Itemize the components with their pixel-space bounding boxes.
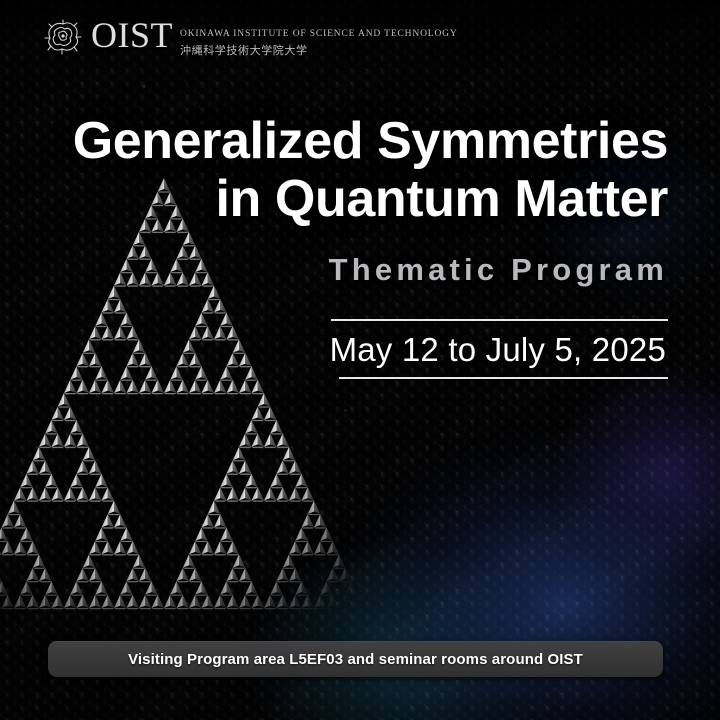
venue-banner-text: Visiting Program area L5EF03 and seminar…	[128, 651, 583, 668]
poster-date-group: May 12 to July 5, 2025	[0, 319, 668, 379]
institute-name-en: OKINAWA INSTITUTE OF SCIENCE AND TECHNOL…	[180, 29, 458, 39]
poster-title-line-1: Generalized Symmetries	[0, 112, 668, 170]
poster-title-line-2: in Quantum Matter	[0, 170, 668, 228]
oist-wordmark: OIST	[91, 18, 173, 52]
institute-name-jp: 沖縄科学技術大学院大学	[180, 42, 458, 58]
event-poster: OIST OKINAWA INSTITUTE OF SCIENCE AND TE…	[0, 0, 720, 720]
oist-crest-icon	[44, 18, 84, 56]
date-rule-bottom	[339, 377, 668, 379]
poster-text-block: Generalized Symmetries in Quantum Matter…	[0, 112, 668, 379]
poster-date-range: May 12 to July 5, 2025	[0, 321, 668, 377]
oist-logo: OIST OKINAWA INSTITUTE OF SCIENCE AND TE…	[44, 18, 458, 58]
poster-subtitle: Thematic Program	[0, 252, 668, 288]
oist-institute-name: OKINAWA INSTITUTE OF SCIENCE AND TECHNOL…	[180, 18, 458, 58]
venue-banner: Visiting Program area L5EF03 and seminar…	[48, 641, 663, 677]
